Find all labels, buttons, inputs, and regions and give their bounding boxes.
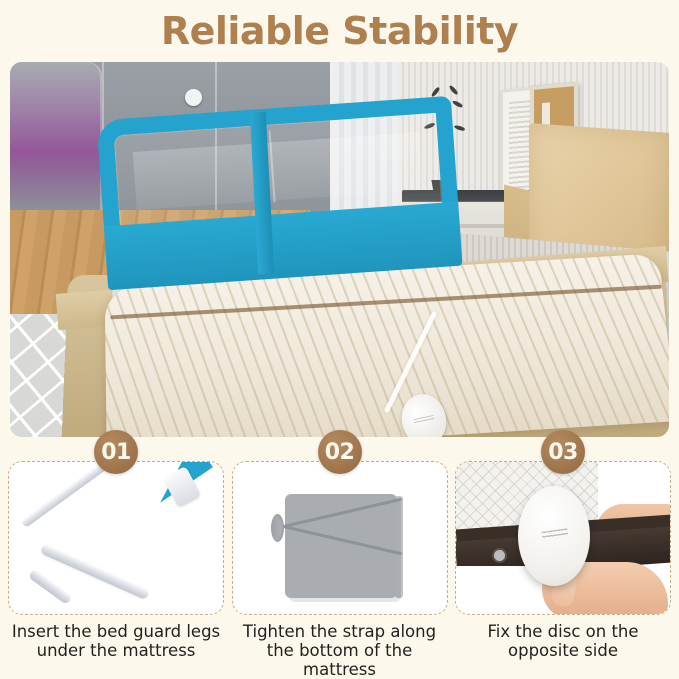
wardrobe-knob-icon: [185, 89, 202, 106]
step-badge: 02: [318, 430, 362, 474]
screw-icon: [494, 550, 505, 561]
page-header: Reliable Stability: [0, 0, 679, 62]
step-illustration-panel: [232, 461, 448, 615]
step-illustration-panel: [8, 461, 224, 615]
page-title: Reliable Stability: [161, 9, 518, 53]
step-03: 03 Fix the disc on the opposite side: [455, 452, 671, 679]
step-caption: Tighten the strap along the bottom of th…: [232, 622, 448, 679]
fixing-disc: [518, 486, 590, 586]
hero-product-photo: [10, 62, 669, 437]
step-illustration-panel: [455, 461, 671, 615]
step-01: 01 Insert the bed guard legs under the m…: [8, 452, 224, 679]
guard-leg-bar: [20, 461, 187, 528]
step-caption: Insert the bed guard legs under the matt…: [8, 622, 224, 660]
step-badge: 03: [541, 430, 585, 474]
bed-guard-rail: [97, 96, 463, 290]
hero-scene: [10, 62, 669, 437]
disc-icon: [271, 514, 284, 542]
step-badge: 01: [94, 430, 138, 474]
steps-row: 01 Insert the bed guard legs under the m…: [0, 452, 679, 679]
guard-leg-stub: [28, 568, 73, 605]
step-02: 02 Tighten the strap along the bottom of…: [232, 452, 448, 679]
step-caption: Fix the disc on the opposite side: [455, 622, 671, 660]
step3-photo: [456, 462, 670, 614]
mattress-underside: [285, 494, 397, 598]
